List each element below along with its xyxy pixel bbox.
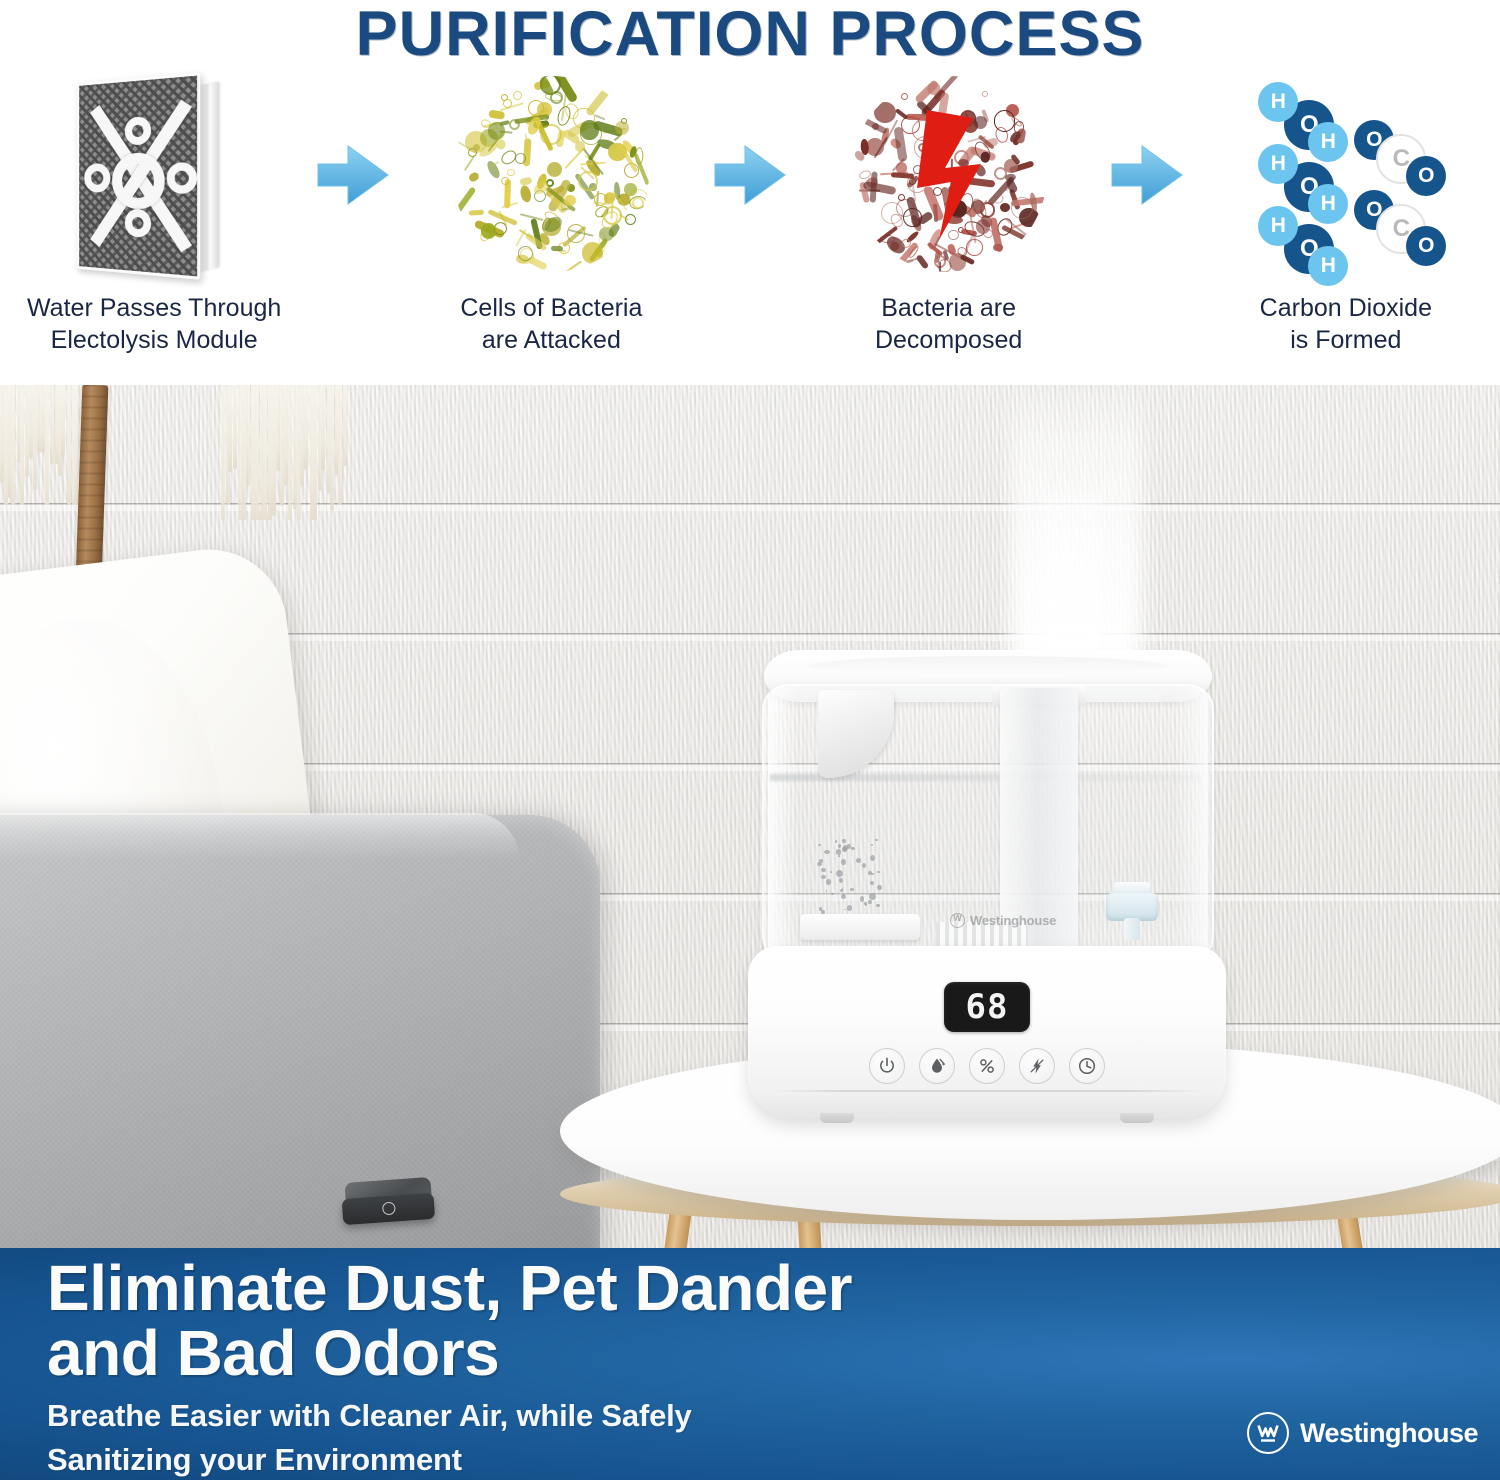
fill-chute	[818, 690, 894, 778]
process-arrow-1-cell	[308, 72, 397, 277]
arrow-right-icon	[711, 142, 789, 208]
banner-subline-1: Breathe Easier with Cleaner Air, while S…	[47, 1394, 1167, 1438]
gray-sofa-arm	[0, 815, 600, 1248]
product-marketing-image: PURIFICATION PROCESS	[0, 0, 1500, 1480]
process-step-3: Bacteria are Decomposed	[794, 72, 1102, 356]
percent-icon	[977, 1056, 997, 1076]
process-step-4-caption: Carbon Dioxide is Formed	[1260, 293, 1432, 356]
process-step-4: OHHOHHOHHOCOOCO Carbon Dioxide is Formed	[1192, 72, 1500, 356]
humidifier-base	[748, 946, 1226, 1118]
process-step-2-caption: Cells of Bacteria are Attacked	[460, 293, 642, 356]
product-brand-text: Westinghouse	[970, 913, 1056, 928]
mist-level-button[interactable]	[919, 1048, 955, 1084]
hydrogen-atom: H	[1308, 184, 1348, 224]
water-tank: Westinghouse	[762, 684, 1214, 969]
bacteria-decomposed-icon	[841, 72, 1056, 277]
step-4-caption-line-1: Carbon Dioxide	[1260, 293, 1432, 325]
co2-molecule-icon: OHHOHHOHHOCOOCO	[1238, 72, 1453, 277]
banner-headline: Eliminate Dust, Pet Dander and Bad Odors	[47, 1256, 1167, 1387]
banner-subheadline: Breathe Easier with Cleaner Air, while S…	[47, 1394, 1167, 1480]
lifestyle-photo: Westinghouse 68	[0, 385, 1500, 1248]
process-arrow-2-cell	[706, 72, 795, 277]
step-2-caption-line-1: Cells of Bacteria	[460, 293, 642, 325]
remote-control[interactable]	[341, 1177, 436, 1229]
banner-headline-line-1: Eliminate Dust, Pet Dander	[47, 1256, 1167, 1321]
lightning-icon	[1027, 1056, 1047, 1076]
clock-icon	[1077, 1056, 1097, 1076]
process-step-1: Water Passes Through Electolysis Module	[0, 72, 308, 356]
step-4-caption-line-2: is Formed	[1260, 325, 1432, 357]
humidity-reading: 68	[966, 990, 1009, 1024]
humidifier-product: Westinghouse 68	[748, 650, 1226, 1135]
oxygen-atom: O	[1406, 226, 1446, 266]
process-step-2: Cells of Bacteria are Attacked	[397, 72, 705, 356]
westinghouse-wordmark: Westinghouse	[1300, 1418, 1478, 1449]
oxygen-atom: O	[1406, 156, 1446, 196]
step-2-caption-line-2: are Attacked	[460, 325, 642, 357]
display-screen: 68	[944, 982, 1030, 1032]
westinghouse-logo: Westinghouse	[1247, 1412, 1478, 1454]
hydrogen-atom: H	[1308, 122, 1348, 162]
arrow-right-icon	[1108, 142, 1186, 208]
product-brand-label: Westinghouse	[950, 910, 1090, 930]
power-button[interactable]	[869, 1048, 905, 1084]
page-title: PURIFICATION PROCESS	[0, 0, 1500, 70]
banner-headline-line-2: and Bad Odors	[47, 1321, 1167, 1386]
purification-process-panel: PURIFICATION PROCESS	[0, 0, 1500, 385]
step-1-caption-line-1: Water Passes Through	[27, 293, 281, 325]
step-3-caption-line-2: Decomposed	[875, 325, 1022, 357]
timer-button[interactable]	[1069, 1048, 1105, 1084]
power-icon	[877, 1056, 897, 1076]
humidity-button[interactable]	[969, 1048, 1005, 1084]
ionizer-button[interactable]	[1019, 1048, 1055, 1084]
bacteria-cells-icon	[444, 72, 659, 277]
water-droplet-icon	[927, 1056, 947, 1076]
aroma-nozzle	[1106, 882, 1158, 942]
lightning-bolt-icon	[841, 72, 1056, 277]
westinghouse-w-icon	[1247, 1412, 1289, 1454]
process-steps: Water Passes Through Electolysis Module	[0, 72, 1500, 382]
electrolysis-filter-icon	[47, 72, 262, 277]
process-step-1-caption: Water Passes Through Electolysis Module	[27, 293, 281, 356]
promo-banner: Eliminate Dust, Pet Dander and Bad Odors…	[0, 1248, 1500, 1480]
step-3-caption-line-1: Bacteria are	[875, 293, 1022, 325]
electrolysis-module-tray	[800, 914, 920, 940]
process-step-3-caption: Bacteria are Decomposed	[875, 293, 1022, 356]
westinghouse-mark-icon	[950, 913, 965, 928]
banner-subline-2: Sanitizing your Environment	[47, 1438, 1167, 1480]
process-arrow-3-cell	[1103, 72, 1192, 277]
arrow-right-icon	[314, 142, 392, 208]
water-splash	[816, 838, 882, 916]
macrame-tassel-right	[220, 385, 350, 520]
step-1-caption-line-2: Electolysis Module	[27, 325, 281, 357]
control-panel	[869, 1048, 1105, 1084]
hydrogen-atom: H	[1308, 246, 1348, 286]
